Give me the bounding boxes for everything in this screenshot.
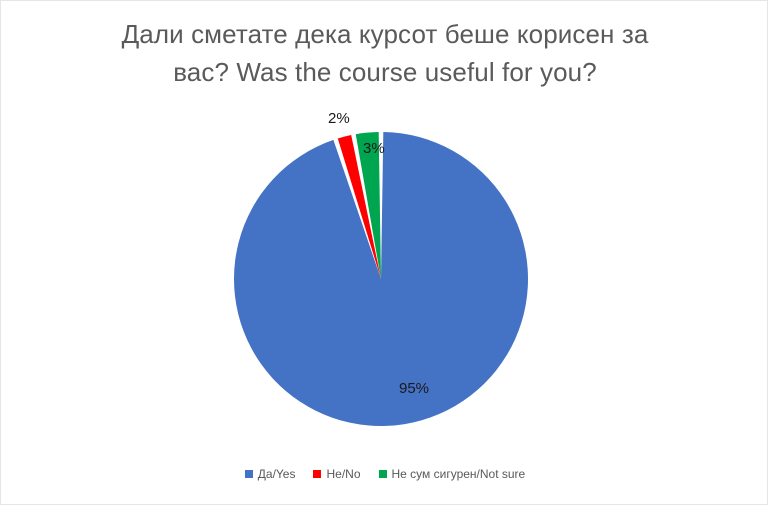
- pie-slice-yes[interactable]: [234, 132, 528, 426]
- data-label-yes: 95%: [399, 380, 429, 397]
- data-label-no: 2%: [328, 110, 350, 127]
- legend-item-yes[interactable]: Да/Yes: [245, 467, 296, 481]
- plot-area: 2% 3% 95%: [1, 1, 768, 461]
- pie-chart-graphic: [1, 1, 768, 461]
- data-label-not-sure: 3%: [363, 140, 385, 157]
- legend-label-no: Не/No: [326, 467, 360, 481]
- legend-swatch-icon-no: [313, 470, 321, 478]
- chart-legend: Да/Yes Не/No Не сум сигурен/Not sure: [1, 467, 768, 481]
- legend-item-no[interactable]: Не/No: [313, 467, 360, 481]
- chart-container: Дали сметате дека курсот беше корисен за…: [0, 0, 768, 505]
- legend-item-not-sure[interactable]: Не сум сигурен/Not sure: [379, 467, 526, 481]
- legend-swatch-icon-yes: [245, 470, 253, 478]
- legend-label-not-sure: Не сум сигурен/Not sure: [392, 467, 526, 481]
- legend-label-yes: Да/Yes: [258, 467, 296, 481]
- pie-slices: [234, 132, 528, 426]
- legend-swatch-icon-not-sure: [379, 470, 387, 478]
